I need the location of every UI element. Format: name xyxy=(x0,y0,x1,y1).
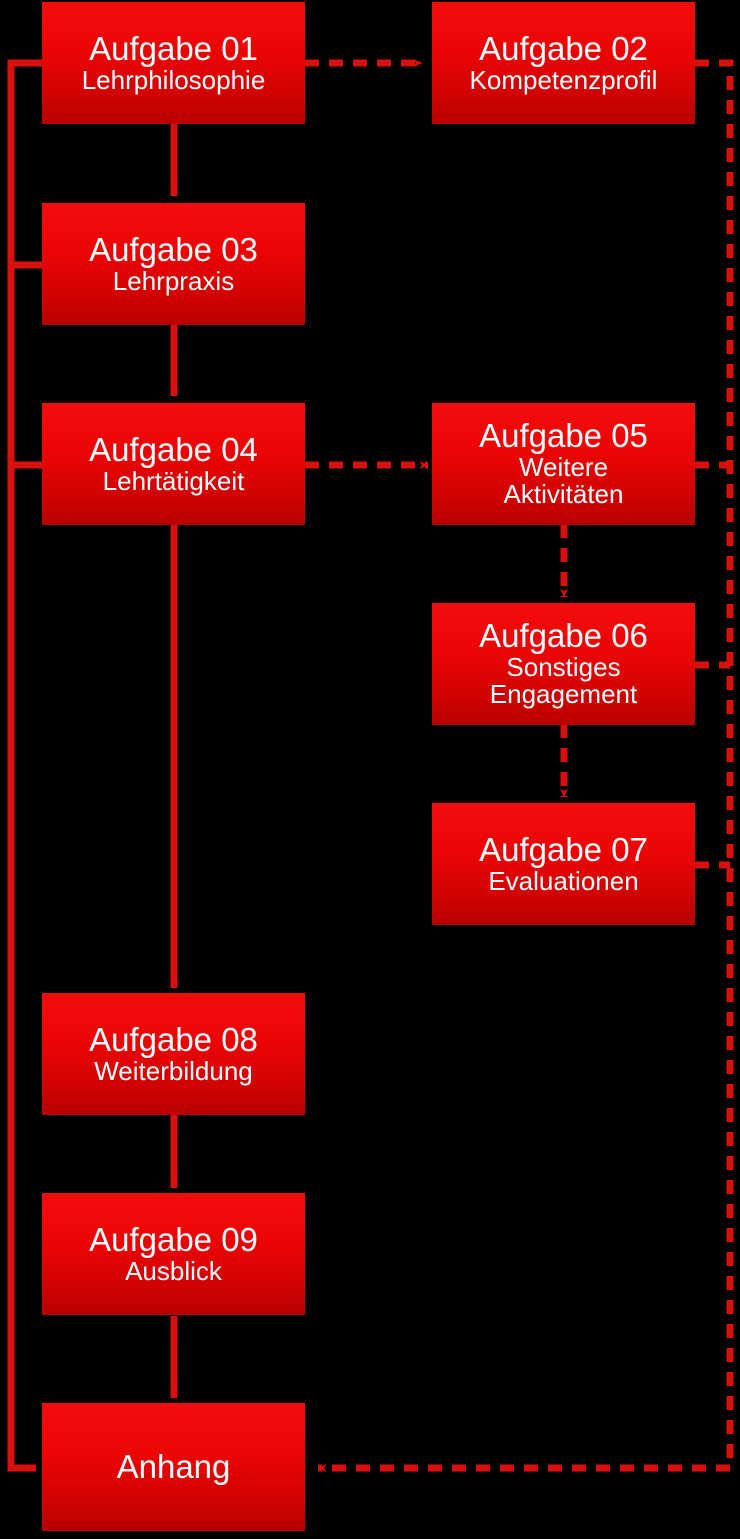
node-title: Anhang xyxy=(117,1450,231,1485)
node-aufgabe-06[interactable]: Aufgabe 06 Sonstiges Engagement xyxy=(432,603,695,725)
node-aufgabe-01[interactable]: Aufgabe 01 Lehrphilosophie xyxy=(42,2,305,124)
node-title: Aufgabe 04 xyxy=(89,433,258,468)
node-subtitle-line2: Engagement xyxy=(490,681,637,709)
node-subtitle: Weitere xyxy=(519,454,608,482)
node-title: Aufgabe 03 xyxy=(89,233,258,268)
edge-left-bus xyxy=(11,63,42,1468)
node-subtitle-line2: Aktivitäten xyxy=(504,481,624,509)
node-aufgabe-08[interactable]: Aufgabe 08 Weiterbildung xyxy=(42,993,305,1115)
node-title: Aufgabe 07 xyxy=(479,833,648,868)
node-title: Aufgabe 05 xyxy=(479,419,648,454)
node-subtitle: Weiterbildung xyxy=(94,1058,253,1086)
node-aufgabe-09[interactable]: Aufgabe 09 Ausblick xyxy=(42,1193,305,1315)
node-aufgabe-07[interactable]: Aufgabe 07 Evaluationen xyxy=(432,803,695,925)
node-subtitle: Lehrtätigkeit xyxy=(103,468,245,496)
node-anhang[interactable]: Anhang xyxy=(42,1403,305,1531)
node-title: Aufgabe 02 xyxy=(479,32,648,67)
node-subtitle: Kompetenzprofil xyxy=(470,67,658,95)
node-aufgabe-05[interactable]: Aufgabe 05 Weitere Aktivitäten xyxy=(432,403,695,525)
node-title: Aufgabe 08 xyxy=(89,1023,258,1058)
node-subtitle: Lehrphilosophie xyxy=(82,67,266,95)
edge-right-bus xyxy=(318,63,730,1468)
flowchart-canvas: Aufgabe 01 Lehrphilosophie Aufgabe 02 Ko… xyxy=(0,0,740,1539)
node-title: Aufgabe 09 xyxy=(89,1223,258,1258)
node-subtitle: Lehrpraxis xyxy=(113,268,234,296)
node-aufgabe-04[interactable]: Aufgabe 04 Lehrtätigkeit xyxy=(42,403,305,525)
node-title: Aufgabe 06 xyxy=(479,619,648,654)
node-subtitle: Sonstiges xyxy=(506,654,620,682)
node-aufgabe-02[interactable]: Aufgabe 02 Kompetenzprofil xyxy=(432,2,695,124)
node-title: Aufgabe 01 xyxy=(89,32,258,67)
node-subtitle: Ausblick xyxy=(125,1258,222,1286)
node-subtitle: Evaluationen xyxy=(488,868,638,896)
node-aufgabe-03[interactable]: Aufgabe 03 Lehrpraxis xyxy=(42,203,305,325)
